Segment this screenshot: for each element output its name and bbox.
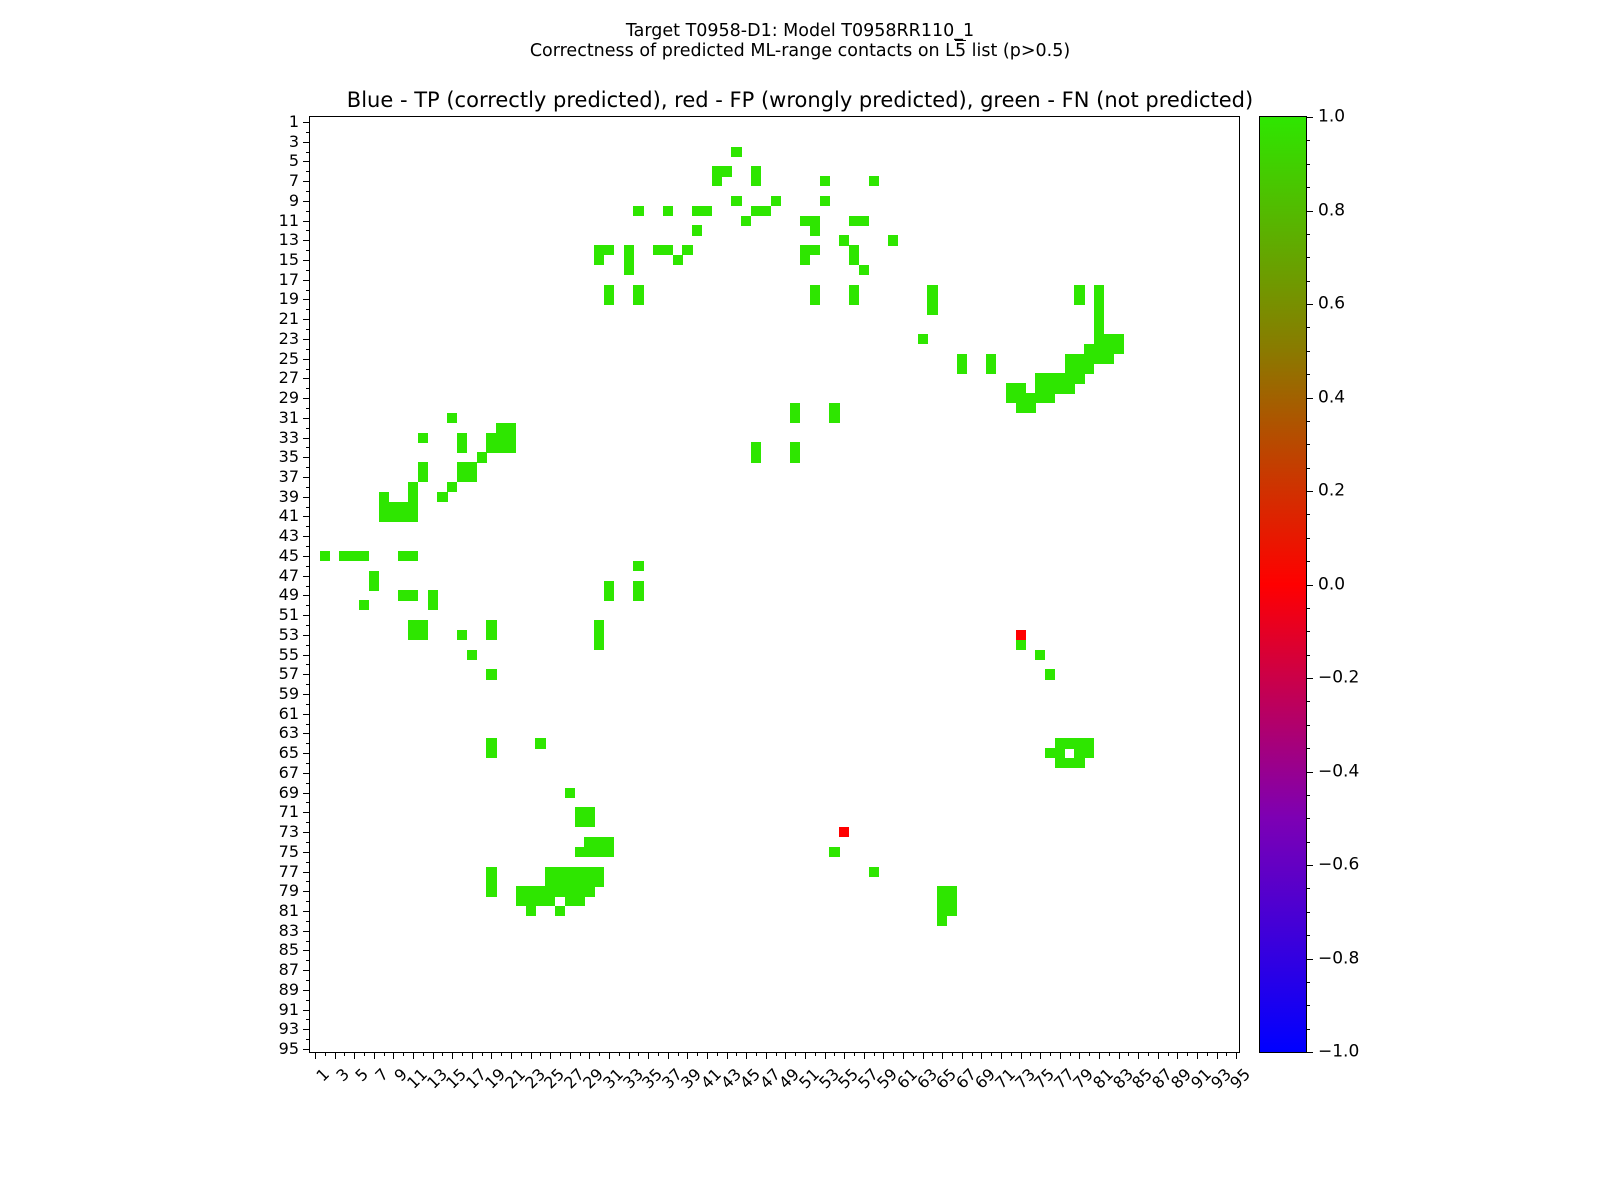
colorbar-tick-label: 0.8: [1318, 202, 1345, 219]
contact-cell-fn: [604, 245, 614, 255]
y-tick-label: 43: [279, 528, 299, 544]
contact-cell-fn: [1074, 758, 1084, 768]
contact-cell-fn: [428, 590, 438, 600]
y-tick-label: 23: [279, 331, 299, 347]
contact-cell-fn: [408, 492, 418, 502]
contact-cell-fn: [1055, 738, 1065, 748]
contact-cell-fn: [937, 886, 947, 896]
contact-cell-fn: [594, 245, 604, 255]
y-tick: [306, 724, 310, 725]
contact-cell-fn: [565, 876, 575, 886]
y-tick-label: 25: [279, 351, 299, 367]
y-tick: [306, 921, 310, 922]
contact-cell-fn: [1006, 393, 1016, 403]
y-tick-label: 87: [279, 962, 299, 978]
contact-cell-fn: [526, 906, 536, 916]
x-tick-label: 5: [353, 1066, 372, 1085]
y-tick: [303, 378, 310, 379]
y-tick: [306, 645, 310, 646]
contact-cell-fn: [859, 216, 869, 226]
y-tick-label: 3: [289, 134, 299, 150]
colorbar-tick: [1306, 678, 1313, 679]
y-tick: [306, 270, 310, 271]
contact-cell-fn: [369, 581, 379, 591]
contact-cell-fn: [496, 433, 506, 443]
y-tick: [306, 507, 310, 508]
colorbar-minor-tick: [1306, 748, 1310, 749]
x-tick: [756, 1052, 757, 1056]
colorbar-tick-label: −0.8: [1318, 950, 1359, 967]
contact-cell-fn: [447, 413, 457, 423]
contact-cell-fn: [829, 847, 839, 857]
contact-cell-fn: [594, 640, 604, 650]
y-tick: [306, 901, 310, 902]
y-tick-label: 49: [279, 587, 299, 603]
contact-cell-fn: [496, 442, 506, 452]
contact-cell-fn: [1074, 354, 1084, 364]
contact-cell-fn: [1055, 383, 1065, 393]
colorbar-minor-tick: [1306, 912, 1310, 913]
contact-cell-fn: [594, 255, 604, 265]
y-tick-label: 41: [279, 508, 299, 524]
contact-cell-fn: [820, 196, 830, 206]
contact-cell-fn: [800, 255, 810, 265]
contact-cell-fn: [633, 206, 643, 216]
x-tick: [923, 1052, 924, 1059]
y-tick-label: 7: [289, 173, 299, 189]
x-tick: [795, 1052, 796, 1056]
contact-cell-fn: [624, 255, 634, 265]
contact-cell-fn: [712, 176, 722, 186]
contact-cell-fn: [771, 196, 781, 206]
contact-cell-fn: [800, 245, 810, 255]
colorbar-tick-label: 1.0: [1318, 109, 1345, 126]
y-tick: [303, 418, 310, 419]
x-tick-label: 95: [1228, 1066, 1254, 1092]
contact-cell-fn: [869, 867, 879, 877]
x-tick: [403, 1052, 404, 1056]
y-tick-label: 69: [279, 785, 299, 801]
contact-cell-fn: [565, 867, 575, 877]
y-tick: [306, 428, 310, 429]
x-tick: [952, 1052, 953, 1056]
colorbar-minor-tick: [1306, 421, 1310, 422]
contact-cell-fn: [604, 581, 614, 591]
contact-cell-fn: [575, 807, 585, 817]
contact-cell-fn: [751, 452, 761, 462]
x-tick: [1148, 1052, 1149, 1056]
x-tick: [1099, 1052, 1100, 1059]
x-tick: [1089, 1052, 1090, 1056]
contact-cell-fn: [1035, 393, 1045, 403]
y-tick: [306, 447, 310, 448]
x-tick: [776, 1052, 777, 1056]
y-tick: [303, 1049, 310, 1050]
y-tick: [303, 280, 310, 281]
colorbar-minor-tick: [1306, 257, 1310, 258]
x-tick: [325, 1052, 326, 1056]
x-tick: [1060, 1052, 1061, 1059]
y-tick: [303, 950, 310, 951]
y-tick: [303, 477, 310, 478]
x-tick: [1119, 1052, 1120, 1059]
contact-cell-fn: [673, 255, 683, 265]
contact-cell-fn: [575, 847, 585, 857]
contact-cell-fn: [937, 896, 947, 906]
contact-cell-fn: [584, 886, 594, 896]
contact-cell-fn: [869, 176, 879, 186]
x-tick: [580, 1052, 581, 1056]
contact-cell-fn: [457, 462, 467, 472]
contact-cell-fn: [1074, 748, 1084, 758]
y-tick: [303, 240, 310, 241]
contact-cell-fn: [1074, 285, 1084, 295]
contact-cell-fn: [320, 551, 330, 561]
contact-cell-fn: [418, 620, 428, 630]
colorbar-minor-tick: [1306, 701, 1310, 702]
y-tick-label: 75: [279, 844, 299, 860]
y-tick-label: 51: [279, 607, 299, 623]
contact-cell-fn: [575, 817, 585, 827]
contact-cell-fn: [1094, 334, 1104, 344]
contact-cell-fn: [1065, 354, 1075, 364]
y-tick: [303, 142, 310, 143]
x-tick: [413, 1052, 414, 1059]
contact-cell-fn: [1094, 324, 1104, 334]
y-tick: [306, 191, 310, 192]
contact-cell-fn: [927, 285, 937, 295]
contact-cell-fn: [349, 551, 359, 561]
contact-cell-fn: [604, 590, 614, 600]
x-tick: [531, 1052, 532, 1059]
contact-cell-fn: [428, 600, 438, 610]
y-tick: [306, 211, 310, 212]
x-tick: [844, 1052, 845, 1059]
y-tick: [303, 773, 310, 774]
title-line2-prefix: Correctness of predicted ML-range contac…: [530, 41, 955, 61]
y-tick: [306, 566, 310, 567]
contact-cell-fn: [486, 630, 496, 640]
x-tick: [1050, 1052, 1051, 1056]
contact-cell-fn: [731, 147, 741, 157]
contact-cell-fn: [820, 176, 830, 186]
colorbar-minor-tick: [1306, 468, 1310, 469]
contact-cell-fn: [457, 442, 467, 452]
contact-cell-fn: [418, 462, 428, 472]
y-tick: [306, 625, 310, 626]
contact-cell-fn: [624, 265, 634, 275]
colorbar-tick: [1306, 1052, 1313, 1053]
contact-cell-fn: [1084, 738, 1094, 748]
contact-cell-fn: [604, 285, 614, 295]
contact-cell-fn: [388, 512, 398, 522]
contact-cell-fn: [1035, 383, 1045, 393]
contact-cell-fn: [1045, 383, 1055, 393]
x-tick-label: 7: [372, 1066, 391, 1085]
y-tick: [306, 408, 310, 409]
y-tick: [306, 802, 310, 803]
contact-cell-fn: [437, 492, 447, 502]
y-tick-label: 77: [279, 864, 299, 880]
contact-cell-fn: [1114, 334, 1124, 344]
contact-cell-fn: [849, 255, 859, 265]
y-tick-label: 29: [279, 390, 299, 406]
x-tick: [766, 1052, 767, 1059]
y-tick: [306, 1039, 310, 1040]
title-line2-overline-five: 5: [955, 41, 966, 61]
contact-cell-fn: [1074, 364, 1084, 374]
x-tick: [687, 1052, 688, 1059]
y-tick: [306, 388, 310, 389]
colorbar-minor-tick: [1306, 444, 1310, 445]
y-tick-label: 21: [279, 311, 299, 327]
contact-cell-fn: [849, 216, 859, 226]
x-tick: [315, 1052, 316, 1059]
x-tick: [374, 1052, 375, 1059]
y-tick: [303, 536, 310, 537]
contact-cell-fn: [712, 166, 722, 176]
contact-cell-fn: [477, 452, 487, 462]
contact-cell-fn: [486, 433, 496, 443]
contact-cell-fn: [790, 403, 800, 413]
y-tick-label: 35: [279, 449, 299, 465]
x-tick: [805, 1052, 806, 1059]
contact-cell-fn: [486, 669, 496, 679]
colorbar-minor-tick: [1306, 818, 1310, 819]
colorbar-minor-tick: [1306, 538, 1310, 539]
y-tick-label: 81: [279, 903, 299, 919]
contact-cell-fn: [467, 650, 477, 660]
x-tick: [678, 1052, 679, 1056]
x-tick: [697, 1052, 698, 1056]
contact-cell-fn: [418, 472, 428, 482]
contact-cell-fn: [575, 886, 585, 896]
contact-cell-fn: [526, 896, 536, 906]
contact-cell-fn: [408, 630, 418, 640]
y-tick: [306, 349, 310, 350]
contact-cell-fn: [486, 748, 496, 758]
contact-cell-fn: [790, 452, 800, 462]
contact-cell-fn: [1094, 354, 1104, 364]
x-tick: [550, 1052, 551, 1059]
y-tick: [306, 290, 310, 291]
contact-cell-fn: [986, 364, 996, 374]
contact-cell-fn: [457, 433, 467, 443]
contact-cell-fn: [496, 423, 506, 433]
contact-cell-fn: [1074, 295, 1084, 305]
contact-cell-fn: [486, 867, 496, 877]
y-tick-label: 73: [279, 824, 299, 840]
y-tick-label: 63: [279, 725, 299, 741]
contact-cell-fn: [447, 482, 457, 492]
contact-cell-fp: [1016, 630, 1026, 640]
contact-cell-fn: [1065, 383, 1075, 393]
y-tick: [303, 438, 310, 439]
x-tick: [560, 1052, 561, 1056]
contact-map-plot-area[interactable]: 1357911131517192123252729313335373941434…: [309, 116, 1240, 1053]
y-tick: [303, 753, 310, 754]
contact-cell-fn: [1104, 344, 1114, 354]
contact-cell-fn: [1035, 373, 1045, 383]
colorbar-minor-tick: [1306, 655, 1310, 656]
contact-cell-fn: [633, 295, 643, 305]
contact-cell-fn: [506, 433, 516, 443]
y-tick-label: 53: [279, 627, 299, 643]
contact-cell-fn: [565, 896, 575, 906]
contact-cell-fn: [594, 876, 604, 886]
colorbar-minor-tick: [1306, 234, 1310, 235]
x-tick: [1197, 1052, 1198, 1059]
y-tick-label: 17: [279, 272, 299, 288]
y-tick: [303, 655, 310, 656]
contact-cell-fn: [594, 867, 604, 877]
y-tick: [303, 852, 310, 853]
contact-cell-fn: [594, 847, 604, 857]
contact-cell-fn: [633, 581, 643, 591]
contact-cell-fn: [1016, 403, 1026, 413]
contact-cell-fn: [565, 886, 575, 896]
colorbar-tick: [1306, 304, 1313, 305]
y-tick: [303, 556, 310, 557]
y-tick-label: 39: [279, 489, 299, 505]
contact-cell-fn: [545, 876, 555, 886]
contact-cell-fn: [1065, 364, 1075, 374]
contact-cell-fn: [369, 571, 379, 581]
y-tick: [303, 714, 310, 715]
colorbar-minor-tick: [1306, 561, 1310, 562]
y-tick-label: 95: [279, 1041, 299, 1057]
x-tick: [736, 1052, 737, 1056]
x-tick: [609, 1052, 610, 1059]
colorbar[interactable]: 1.00.80.60.40.20.0−0.2−0.4−0.6−0.8−1.0: [1259, 116, 1307, 1053]
x-tick: [962, 1052, 963, 1059]
contact-cell-fn: [849, 295, 859, 305]
contact-cell-fn: [927, 304, 937, 314]
y-tick: [306, 704, 310, 705]
x-tick: [1187, 1052, 1188, 1056]
contact-cell-fn: [722, 166, 732, 176]
contact-cell-fn: [731, 196, 741, 206]
y-tick: [306, 309, 310, 310]
colorbar-minor-tick: [1306, 140, 1310, 141]
x-tick: [472, 1052, 473, 1059]
contact-cell-fn: [1025, 403, 1035, 413]
colorbar-tick: [1306, 211, 1313, 212]
contact-cell-fn: [849, 245, 859, 255]
x-tick: [589, 1052, 590, 1059]
contact-cell-fn: [1006, 383, 1016, 393]
contact-cell-fn: [1065, 758, 1075, 768]
y-tick: [306, 250, 310, 251]
colorbar-minor-tick: [1306, 514, 1310, 515]
colorbar-minor-tick: [1306, 842, 1310, 843]
x-tick: [913, 1052, 914, 1056]
contact-cell-fn: [575, 867, 585, 877]
contact-cell-fn: [486, 876, 496, 886]
x-tick: [1168, 1052, 1169, 1056]
y-tick-label: 85: [279, 942, 299, 958]
contact-cell-fn: [653, 245, 663, 255]
y-tick: [303, 812, 310, 813]
x-tick: [570, 1052, 571, 1059]
x-tick: [1021, 1052, 1022, 1059]
x-tick: [854, 1052, 855, 1056]
x-tick: [364, 1052, 365, 1056]
x-tick: [452, 1052, 453, 1059]
y-tick-label: 37: [279, 469, 299, 485]
y-tick: [306, 230, 310, 231]
contact-cell-fn: [584, 837, 594, 847]
x-tick: [629, 1052, 630, 1059]
colorbar-minor-tick: [1306, 374, 1310, 375]
colorbar-minor-tick: [1306, 164, 1310, 165]
y-tick: [303, 457, 310, 458]
colorbar-minor-tick: [1306, 1005, 1310, 1006]
y-tick-label: 55: [279, 647, 299, 663]
contact-cell-fn: [516, 886, 526, 896]
contact-cell-fn: [555, 906, 565, 916]
y-tick-label: 45: [279, 548, 299, 564]
contact-cell-fn: [526, 886, 536, 896]
contact-cell-fn: [810, 245, 820, 255]
contact-cell-fn: [408, 590, 418, 600]
contact-cell-fn: [486, 886, 496, 896]
y-tick-label: 71: [279, 804, 299, 820]
x-tick: [540, 1052, 541, 1056]
contact-cell-fn: [584, 867, 594, 877]
contact-cell-fn: [584, 847, 594, 857]
y-tick-label: 61: [279, 706, 299, 722]
contact-cell-fn: [379, 502, 389, 512]
x-tick: [1217, 1052, 1218, 1059]
x-tick: [864, 1052, 865, 1059]
x-tick: [1070, 1052, 1071, 1056]
x-tick: [501, 1052, 502, 1056]
contact-cell-fn: [790, 442, 800, 452]
contact-cell-fn: [1055, 373, 1065, 383]
contact-cell-fn: [486, 738, 496, 748]
y-tick: [306, 586, 310, 587]
colorbar-tick: [1306, 398, 1313, 399]
x-tick: [785, 1052, 786, 1059]
contact-cell-fn: [1094, 295, 1104, 305]
y-tick-label: 1: [289, 114, 299, 130]
contact-cell-fn: [398, 512, 408, 522]
contact-cell-fn: [594, 630, 604, 640]
contact-cell-fn: [1045, 393, 1055, 403]
chart-title-line-2: Correctness of predicted ML-range contac…: [0, 41, 1600, 61]
contact-cell-fn: [486, 620, 496, 630]
contact-cell-fn: [1094, 314, 1104, 324]
y-tick-label: 67: [279, 765, 299, 781]
x-tick: [423, 1052, 424, 1056]
contact-cell-fn: [957, 364, 967, 374]
colorbar-tick-label: −0.4: [1318, 763, 1359, 780]
y-tick: [303, 398, 310, 399]
x-tick: [972, 1052, 973, 1056]
y-tick-label: 89: [279, 982, 299, 998]
x-tick: [825, 1052, 826, 1059]
contact-cell-fn: [379, 492, 389, 502]
y-tick: [306, 763, 310, 764]
contact-cell-fn: [467, 472, 477, 482]
y-tick: [303, 635, 310, 636]
y-tick: [303, 733, 310, 734]
contact-cell-fn: [535, 886, 545, 896]
contact-cell-fn: [1045, 748, 1055, 758]
contact-cell-fn: [398, 551, 408, 561]
contact-cell-fn: [810, 225, 820, 235]
